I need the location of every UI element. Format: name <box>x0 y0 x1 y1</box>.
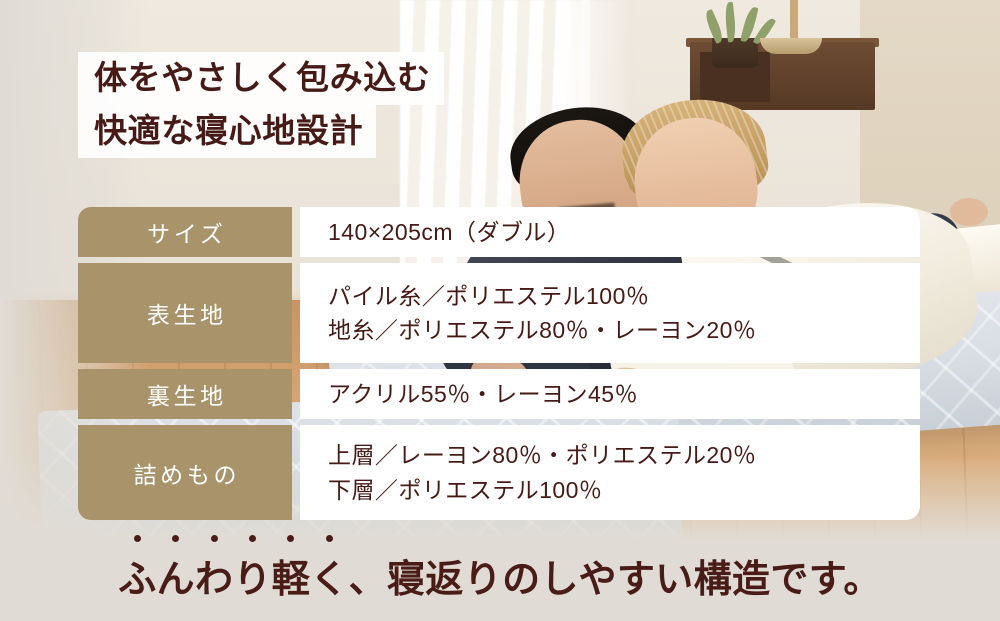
spec-value-size: 140×205cm（ダブル） <box>300 207 920 257</box>
spec-value-filling: 上層／レーヨン80％・ポリエステル20％ 下層／ポリエステル100％ <box>300 425 920 520</box>
spec-label-back-fabric: 裏生地 <box>78 369 292 419</box>
spec-value-line: 下層／ポリエステル100％ <box>328 473 920 507</box>
headline-line-1: 体をやさしく包み込む <box>78 52 444 105</box>
table-row: 裏生地 アクリル55％・レーヨン45％ <box>78 369 920 419</box>
spec-value-line: パイル糸／ポリエステル100％ <box>328 279 920 313</box>
spec-table: サイズ 140×205cm（ダブル） 表生地 パイル糸／ポリエステル100％ 地… <box>78 207 920 520</box>
spec-label-filling: 詰めもの <box>78 425 292 520</box>
table-row: 表生地 パイル糸／ポリエステル100％ 地糸／ポリエステル80％・レーヨン20％ <box>78 263 920 363</box>
product-spec-banner: 体をやさしく包み込む 快適な寝心地設計 サイズ 140×205cm（ダブル） 表… <box>0 0 1000 621</box>
tagline-emphasized: ふんわり軽く <box>118 548 348 603</box>
spec-value-back-fabric: アクリル55％・レーヨン45％ <box>300 369 920 419</box>
tagline-rest: 、寝返りのしやすい構造です。 <box>349 559 882 601</box>
photo-bowl-ornament <box>760 38 822 54</box>
table-row: サイズ 140×205cm（ダブル） <box>78 207 920 257</box>
spec-value-line: 140×205cm（ダブル） <box>328 215 920 249</box>
spec-label-face-fabric: 表生地 <box>78 263 292 363</box>
table-row: 詰めもの 上層／レーヨン80％・ポリエステル20％ 下層／ポリエステル100％ <box>78 425 920 520</box>
headline-line-2: 快適な寝心地設計 <box>78 105 376 158</box>
spec-value-line: 地糸／ポリエステル80％・レーヨン20％ <box>328 313 920 347</box>
footer-tagline: ふんわり軽く 、寝返りのしやすい構造です。 <box>0 548 1000 603</box>
headline: 体をやさしく包み込む 快適な寝心地設計 <box>78 52 444 158</box>
spec-value-line: アクリル55％・レーヨン45％ <box>328 377 920 411</box>
spec-label-size: サイズ <box>78 207 292 257</box>
spec-value-line: 上層／レーヨン80％・ポリエステル20％ <box>328 438 920 472</box>
photo-foot <box>950 198 988 226</box>
tagline-emphasized-text: ふんわり軽く <box>118 559 348 601</box>
spec-value-face-fabric: パイル糸／ポリエステル100％ 地糸／ポリエステル80％・レーヨン20％ <box>300 263 920 363</box>
